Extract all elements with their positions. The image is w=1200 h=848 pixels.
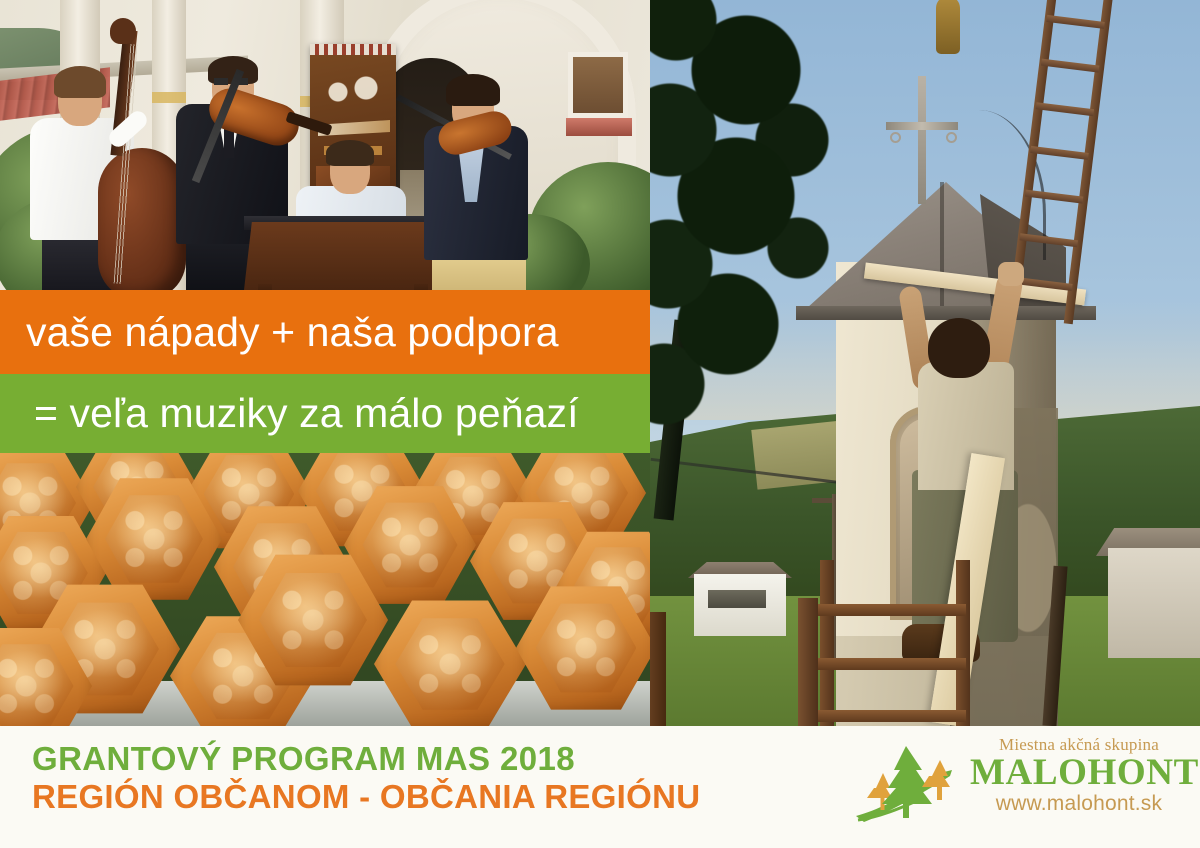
ladder-rung [1030, 146, 1088, 160]
malohont-logo[interactable]: Miestna akčná skupina MALOHONT www.maloh… [852, 736, 1188, 836]
logo-website-url[interactable]: www.malohont.sk [970, 792, 1188, 815]
ladder-step [816, 604, 966, 616]
double-bass-scroll [110, 18, 136, 44]
logo-wordmark: Miestna akčná skupina MALOHONT www.maloh… [970, 736, 1188, 816]
program-title: GRANTOVÝ PROGRAM MAS 2018 [32, 742, 700, 777]
chapel-cross [918, 76, 926, 204]
neighbour-house [1108, 548, 1200, 658]
trees-on-hill-icon [852, 740, 964, 826]
folk-band-photo [0, 0, 650, 300]
poster: vaše nápady + naša podpora = veľa muziky… [0, 0, 1200, 848]
banner-folk-trim [310, 44, 396, 55]
banner-hands-logo [322, 62, 384, 114]
ladder-rail [1064, 0, 1113, 324]
step-ladder [816, 560, 996, 726]
roof-finial [936, 0, 960, 54]
hair [446, 74, 500, 106]
ladder-rung [1025, 190, 1083, 204]
double-bass-body [98, 148, 186, 300]
foreground-tree [650, 0, 886, 450]
hair [54, 66, 106, 98]
footer-headlines: GRANTOVÝ PROGRAM MAS 2018 REGIÓN OBČANOM… [32, 742, 700, 814]
ladder-rung [1041, 59, 1099, 73]
ladder-rung [1046, 15, 1104, 29]
slogan-line-2: = veľa muziky za málo peňazí [0, 390, 579, 437]
hand [998, 262, 1024, 286]
hair [326, 140, 374, 166]
ladder-step [816, 710, 966, 722]
slogan-line-1: vaše nápady + naša podpora [0, 309, 559, 356]
ladder-step [816, 658, 966, 670]
chapel-cross-arm [886, 122, 958, 130]
wooden-post [650, 612, 666, 726]
cimbalom-body [244, 222, 440, 290]
column-band [152, 92, 186, 103]
program-subtitle: REGIÓN OBČANOM - OBČANIA REGIÓNU [32, 780, 700, 815]
honey-cakes-photo [0, 453, 650, 726]
chapel-restoration-photo [650, 0, 1200, 726]
logo-name: MALOHONT [970, 754, 1188, 792]
cross-scroll-ornament [890, 132, 901, 143]
ladder-rung [1020, 233, 1078, 247]
slogan-bar-green: = veľa muziky za málo peňazí [0, 374, 650, 453]
photo-collage: vaše nápady + naša podpora = veľa muziky… [0, 0, 1200, 726]
roof-ridge [940, 182, 944, 318]
ladder-rail [956, 560, 970, 726]
wooden-post [798, 598, 818, 726]
ladder-rung [1036, 102, 1094, 116]
building-window [568, 52, 628, 118]
distant-house-window [708, 590, 766, 608]
window-flower-box [566, 118, 632, 136]
ladder-rail [820, 560, 834, 726]
head [928, 318, 990, 378]
slogan-bar-orange: vaše nápady + naša podpora [0, 290, 650, 374]
